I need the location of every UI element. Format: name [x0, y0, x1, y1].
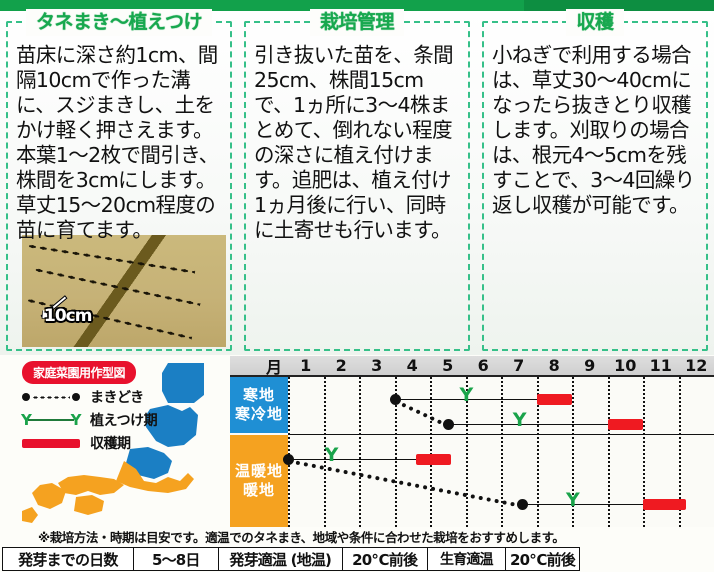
harvest-bar	[643, 499, 686, 510]
cropping-calendar: 月 1 2 3 4 5 6 7 8 9 10 11 12 寒地 寒冷地	[230, 355, 714, 527]
calendar-month-6: 6	[466, 356, 502, 375]
bottom-section: 家庭菜園用作型図 まきどき YY 植えつけ期 収穫期 月 1 2	[0, 355, 714, 572]
legend-label-planting: 植えつけ期	[90, 410, 157, 430]
panel-title-harvest: 収穫	[566, 9, 623, 36]
calendar-month-4: 4	[395, 356, 431, 375]
instruction-panels: タネまき〜植えつけ 苗床に深さ約1cm、間隔10cmで作った溝に、スジまきし、土…	[0, 11, 714, 355]
panel-title-cultivation: 栽培管理	[310, 9, 404, 36]
region-name-ondanchi: 温暖地	[235, 462, 283, 481]
planting-y-marker: Y	[325, 448, 339, 463]
calendar-month-2: 2	[324, 356, 360, 375]
planting-marker-icon: YY	[22, 413, 80, 427]
calendar-gridline	[288, 377, 290, 527]
seed-packet-page: タネまき〜植えつけ 苗床に深さ約1cm、間隔10cmで作った溝に、スジまきし、土…	[0, 0, 714, 572]
panel-title-wrap: 収穫	[482, 11, 708, 41]
panel-body-harvest: 小ねぎで利用する場合は、草丈30〜40cmになったら抜きとり収穫します。刈取りの…	[482, 41, 708, 218]
legend-label-harvest: 収穫期	[90, 433, 131, 453]
photo-label-10cm: 10cm	[44, 309, 91, 324]
panel-sowing: タネまき〜植えつけ 苗床に深さ約1cm、間隔10cmで作った溝に、スジまきし、土…	[0, 11, 238, 355]
calendar-region-divider	[288, 434, 714, 435]
legend-item-harvest: 収穫期	[22, 433, 131, 453]
calendar-month-label: 月	[230, 356, 288, 375]
growth-line	[522, 504, 643, 505]
legend-item-sowing: まきどき	[22, 387, 144, 407]
calendar-month-8: 8	[537, 356, 573, 375]
growth-line	[288, 459, 416, 460]
calendar-month-9: 9	[572, 356, 608, 375]
spec-value-germination-temp: 20℃前後	[343, 548, 428, 570]
legend-label-sowing: まきどき	[90, 387, 144, 407]
legend-and-map: 家庭菜園用作型図 まきどき YY 植えつけ期 収穫期	[0, 355, 230, 527]
growth-line	[448, 424, 608, 425]
spec-label-days-to-germination: 発芽までの日数	[3, 548, 134, 570]
panel-body-cultivation: 引き抜いた苗を、条間25cm、株間15cmで、1ヵ所に3〜4株まとめて、倒れない…	[244, 41, 470, 243]
panel-title-wrap: タネまき〜植えつけ	[6, 11, 232, 41]
spec-label-growth-temp: 生育適温	[428, 548, 506, 570]
calendar-month-12: 12	[679, 356, 714, 375]
panel-harvest: 収穫 小ねぎで利用する場合は、草丈30〜40cmになったら抜きとり収穫します。刈…	[476, 11, 714, 355]
calendar-month-5: 5	[430, 356, 466, 375]
harvest-marker-icon	[22, 436, 80, 450]
sowing-window-dashed-line	[394, 399, 449, 428]
calendar-header-row: 月 1 2 3 4 5 6 7 8 9 10 11 12	[230, 356, 714, 377]
region-name-danchi: 暖地	[243, 481, 275, 500]
planting-y-marker: Y	[513, 413, 527, 428]
region-label-cold: 寒地 寒冷地	[230, 377, 288, 433]
harvest-bar	[416, 454, 452, 465]
legend-item-planting: YY 植えつけ期	[22, 410, 157, 430]
panel-body-sowing: 苗床に深さ約1cm、間隔10cmで作った溝に、スジまきし、土をかけ軽く押さえます…	[6, 41, 232, 243]
planting-y-marker: Y	[566, 493, 580, 508]
calendar-gridline	[359, 377, 361, 527]
calendar-month-10: 10	[608, 356, 644, 375]
calendar-month-11: 11	[643, 356, 679, 375]
spec-value-growth-temp: 20℃前後	[506, 548, 579, 570]
calendar-month-1: 1	[288, 356, 324, 375]
spec-table: 発芽までの日数 5〜8日 発芽適温 (地温) 20℃前後 生育適温 20℃前後	[2, 547, 580, 571]
region-label-warm: 温暖地 暖地	[230, 435, 288, 527]
harvest-bar	[608, 419, 644, 430]
panel-title-sowing: タネまき〜植えつけ	[26, 9, 212, 36]
spec-value-days-to-germination: 5〜8日	[134, 548, 219, 570]
sowing-marker-icon	[22, 390, 80, 404]
photo-seedbed: 10cm	[22, 235, 226, 347]
calendar-plot-area: 寒地 寒冷地 温暖地 暖地 YYYY	[230, 377, 714, 527]
spec-label-germination-temp: 発芽適温 (地温)	[219, 548, 343, 570]
panel-title-wrap: 栽培管理	[244, 11, 470, 41]
calendar-note: ※栽培方法・時期は目安です。適温でのタネまき、地域や条件に合わせた栽培をおすすめ…	[38, 527, 714, 546]
planting-y-marker: Y	[460, 388, 474, 403]
calendar-month-7: 7	[501, 356, 537, 375]
calendar-month-3: 3	[359, 356, 395, 375]
region-name-kanchi: 寒地	[243, 386, 275, 405]
legend-title: 家庭菜園用作型図	[22, 361, 136, 384]
region-name-kanreichi: 寒冷地	[235, 405, 283, 424]
harvest-bar	[537, 394, 573, 405]
panel-cultivation: 栽培管理 引き抜いた苗を、条間25cm、株間15cmで、1ヵ所に3〜4株まとめて…	[238, 11, 476, 355]
